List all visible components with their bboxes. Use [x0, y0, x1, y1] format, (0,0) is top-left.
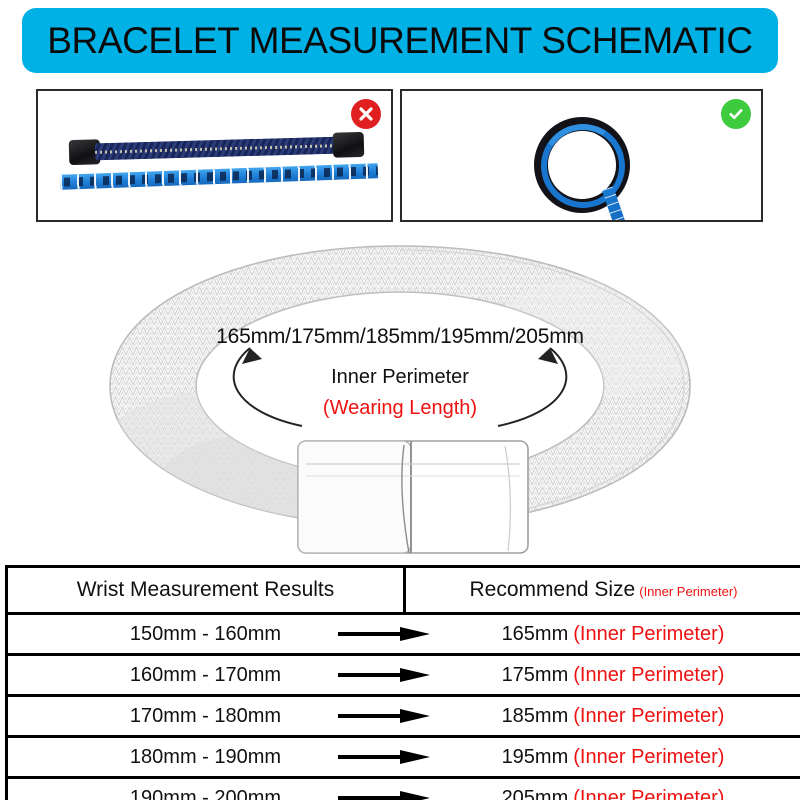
- row-cell-4: 180mm - 190mm 195mm(Inner Perimeter): [7, 737, 800, 778]
- title-banner: BRACELET MEASUREMENT SCHEMATIC: [22, 8, 778, 73]
- recommended-size-value: 165mm: [502, 623, 569, 645]
- maps-to-arrow-icon: [338, 790, 433, 800]
- braid-body: [95, 137, 338, 161]
- recommended-size-note: (Inner Perimeter): [573, 787, 724, 800]
- recommended-size-cell: 175mm(Inner Perimeter): [438, 656, 788, 694]
- recommended-size-value: 175mm: [502, 664, 569, 686]
- header-recommend-note: (Inner Perimeter): [639, 584, 737, 599]
- recommended-size-note: (Inner Perimeter): [573, 746, 724, 768]
- row-cell-3: 170mm - 180mm 185mm(Inner Perimeter): [7, 696, 800, 737]
- table-header-row: Wrist Measurement Results Recommend Size…: [7, 567, 800, 614]
- recommended-size-value: 195mm: [502, 746, 569, 768]
- maps-to-arrow-icon: [338, 667, 433, 683]
- panel-correct-method: [400, 89, 763, 222]
- table-row: 150mm - 160mm 165mm(Inner Perimeter): [7, 614, 800, 655]
- header-cell-wrist: Wrist Measurement Results: [7, 567, 405, 614]
- recommended-size-note: (Inner Perimeter): [573, 664, 724, 686]
- tape-measure-flat-graphic: [60, 163, 378, 190]
- flat-bracelet-photo: [38, 91, 391, 220]
- bracelet-flat-graphic: [73, 135, 360, 162]
- bracelet-clasp: [298, 441, 528, 553]
- header-recommend-label: Recommend Size: [470, 578, 636, 601]
- table-row: 160mm - 170mm 175mm(Inner Perimeter): [7, 655, 800, 696]
- recommended-size-note: (Inner Perimeter): [573, 623, 724, 645]
- row-cell-2: 160mm - 170mm 175mm(Inner Perimeter): [7, 655, 800, 696]
- panel-wrong-method: [36, 89, 393, 222]
- table-row: 170mm - 180mm 185mm(Inner Perimeter): [7, 696, 800, 737]
- recommended-size-cell: 185mm(Inner Perimeter): [438, 697, 788, 735]
- maps-to-arrow-icon: [338, 749, 433, 765]
- tape-ticks: [60, 163, 378, 190]
- looped-bracelet-photo: [402, 91, 761, 220]
- bracelet-size-guide-page: BRACELET MEASUREMENT SCHEMATIC: [0, 0, 800, 800]
- x-mark-icon: [351, 99, 381, 129]
- row-cell-5: 190mm - 200mm 205mm(Inner Perimeter): [7, 778, 800, 800]
- recommended-size-value: 185mm: [502, 705, 569, 727]
- page-title: BRACELET MEASUREMENT SCHEMATIC: [47, 20, 753, 62]
- header-wrist-label: Wrist Measurement Results: [77, 578, 335, 601]
- maps-to-arrow-icon: [338, 626, 433, 642]
- bracelet-sketch-diagram: 165mm/175mm/185mm/195mm/205mm Inner Peri…: [0, 226, 800, 566]
- tape-measure-tail: [602, 186, 628, 222]
- header-cell-recommend: Recommend Size(Inner Perimeter): [405, 567, 800, 614]
- size-recommendation-table: Wrist Measurement Results Recommend Size…: [5, 565, 800, 800]
- clasp-right: [333, 132, 365, 158]
- recommended-size-note: (Inner Perimeter): [573, 705, 724, 727]
- table-row: 190mm - 200mm 205mm(Inner Perimeter): [7, 778, 800, 800]
- maps-to-arrow-icon: [338, 708, 433, 724]
- recommended-size-cell: 195mm(Inner Perimeter): [438, 738, 788, 776]
- recommended-size-cell: 165mm(Inner Perimeter): [438, 615, 788, 653]
- table-row: 180mm - 190mm 195mm(Inner Perimeter): [7, 737, 800, 778]
- check-mark-icon: [721, 99, 751, 129]
- recommended-size-cell: 205mm(Inner Perimeter): [438, 779, 788, 800]
- recommended-size-value: 205mm: [502, 787, 569, 800]
- row-cell-1: 150mm - 160mm 165mm(Inner Perimeter): [7, 614, 800, 655]
